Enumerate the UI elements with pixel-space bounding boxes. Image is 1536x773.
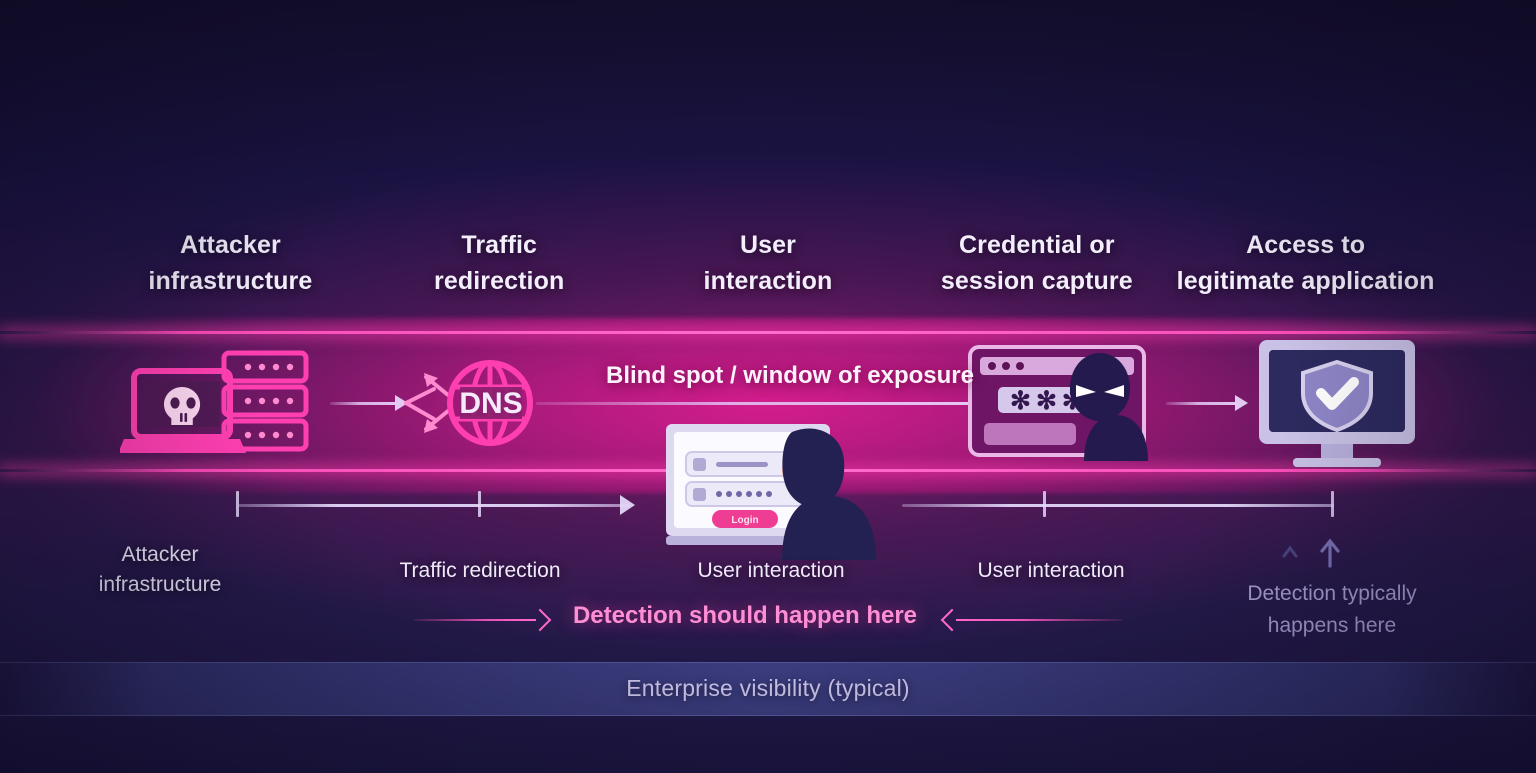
detection-typical-arrows [1258,534,1368,568]
timeline-segment-right [902,504,1334,507]
connector-arrow-1 [330,396,408,410]
detection-arrow-right [944,614,1122,626]
stage-header-row: Attacker infrastructure Traffic redirect… [0,228,1536,299]
dns-label: DNS [459,387,522,420]
stage-header-user-interaction: User interaction [634,228,903,299]
blind-spot-label: Blind spot / window of exposure [594,362,986,390]
timeline-label-traffic-redirection: Traffic redirection [360,556,600,586]
timeline-label-user-interaction-right: User interaction [931,556,1171,586]
infographic-canvas: Attacker infrastructure Traffic redirect… [0,0,1536,773]
timeline-tick-mid-left [478,491,481,517]
stage-header-attacker-infrastructure: Attacker infrastructure [96,228,365,299]
enterprise-visibility-label: Enterprise visibility (typical) [0,675,1536,702]
timeline-tick-mid-right [1043,491,1046,517]
stage-header-credential-capture: Credential or session capture [902,228,1171,299]
timeline-arrowhead [620,495,635,515]
login-button-label: Login [731,515,758,526]
phase-timeline [0,504,1536,506]
detection-should-happen-label: Detection should happen here [556,602,934,630]
credential-capture-icon: ✻✻✻✻ [962,336,1154,470]
timeline-label-attacker-infrastructure: Attacker infrastructure [40,540,280,600]
stage-header-traffic-redirection: Traffic redirection [365,228,634,299]
user-login-interaction-icon: Login [664,418,894,558]
timeline-label-user-interaction-left: User interaction [651,556,891,586]
protected-monitor-icon [1252,336,1422,470]
detection-typical-label: Detection typically happens here [1196,578,1468,641]
detection-arrow-left [414,614,548,626]
connector-arrow-3 [1166,396,1248,410]
attacker-infrastructure-icon [118,336,318,470]
stage-header-access-legitimate-application: Access to legitimate application [1171,228,1440,299]
band-divider-top [0,331,1536,334]
connector-arrow-2 [536,396,986,410]
timeline-tick-end [1331,491,1334,517]
timeline-segment-left [238,504,630,507]
